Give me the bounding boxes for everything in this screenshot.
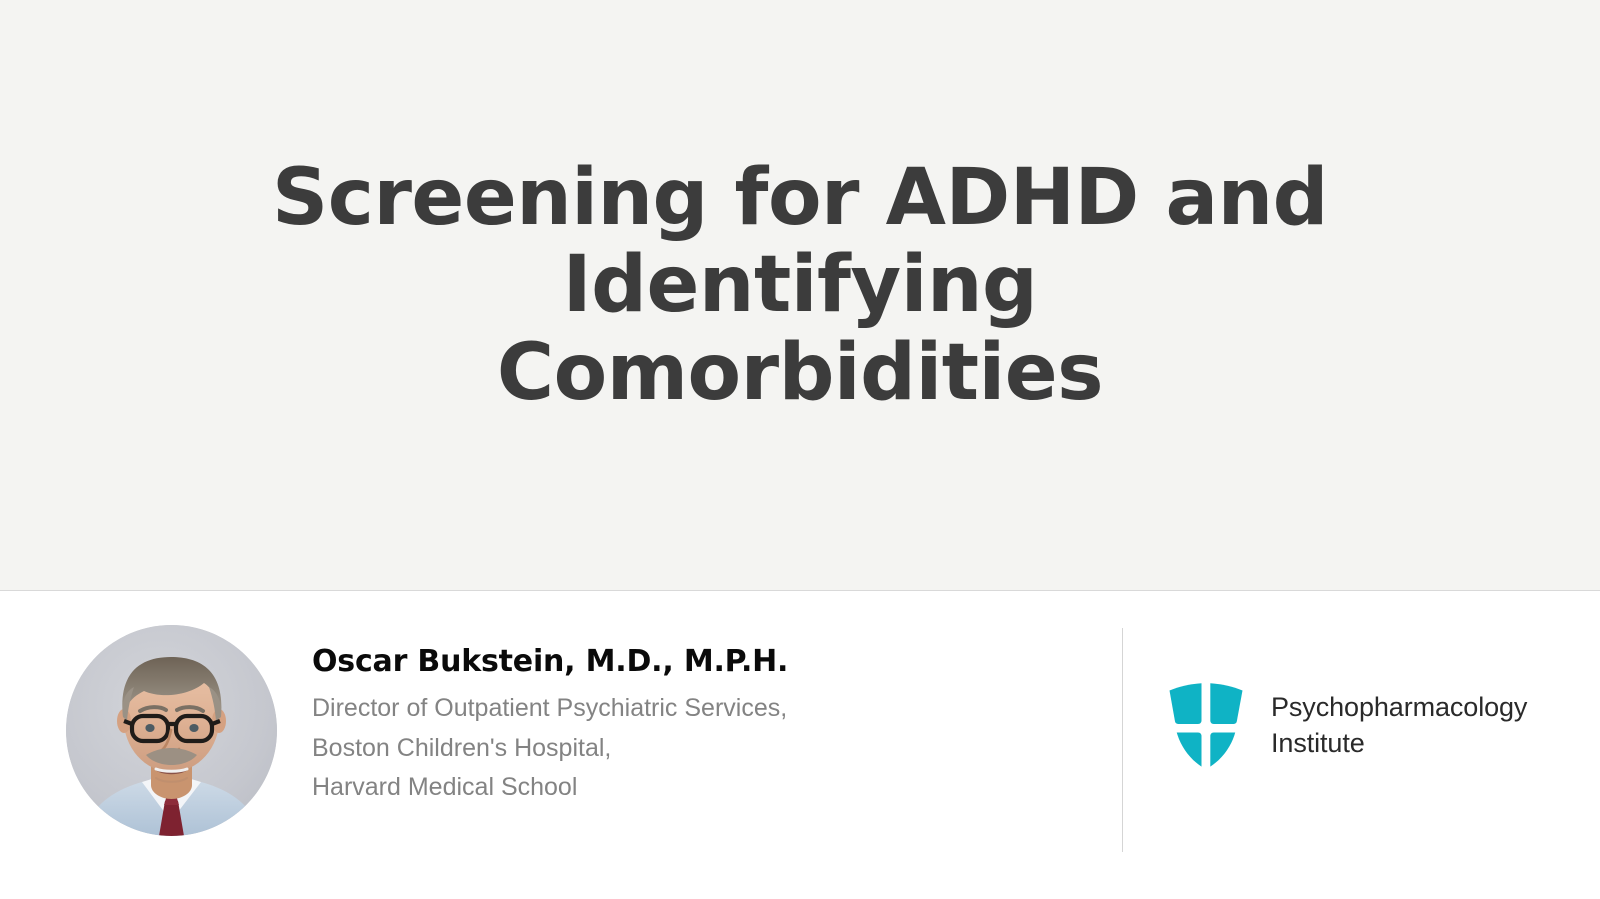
brand-name: Psychopharmacology Institute: [1271, 690, 1527, 761]
vertical-divider: [1122, 628, 1123, 852]
speaker-name: Oscar Bukstein, M.D., M.P.H.: [312, 644, 788, 679]
slide-title: Screening for ADHD and Identifying Comor…: [150, 155, 1450, 417]
presentation-slide: Screening for ADHD and Identifying Comor…: [0, 0, 1600, 899]
speaker-block: Oscar Bukstein, M.D., M.P.H. Director of…: [66, 625, 788, 836]
speaker-info: Oscar Bukstein, M.D., M.P.H. Director of…: [312, 625, 788, 808]
title-panel: Screening for ADHD and Identifying Comor…: [0, 0, 1600, 591]
shield-cross-icon: [1165, 678, 1247, 773]
footer-panel: Oscar Bukstein, M.D., M.P.H. Director of…: [0, 592, 1600, 899]
speaker-affiliation: Director of Outpatient Psychiatric Servi…: [312, 689, 788, 808]
brand-block: Psychopharmacology Institute: [1165, 678, 1527, 773]
avatar: [66, 625, 277, 836]
